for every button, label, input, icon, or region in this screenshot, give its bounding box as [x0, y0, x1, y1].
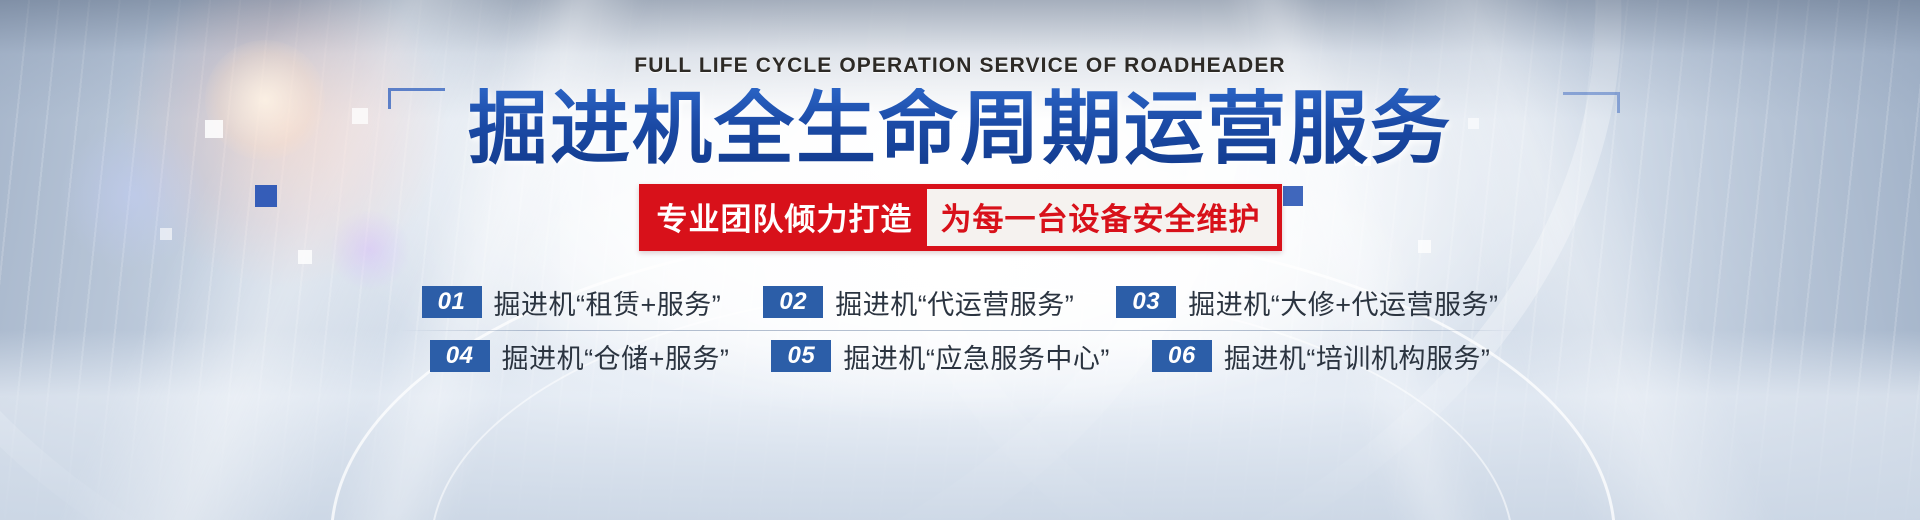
service-label: 掘进机“培训机构服务”: [1224, 337, 1490, 376]
service-number-badge: 02: [763, 286, 823, 318]
strapline-right-text: 为每一台设备安全维护: [927, 189, 1277, 246]
banner-eyebrow-english: FULL LIFE CYCLE OPERATION SERVICE OF ROA…: [634, 54, 1285, 78]
service-item-03[interactable]: 03 掘进机“大修+代运营服务”: [1116, 283, 1498, 322]
service-label: 掘进机“大修+代运营服务”: [1188, 283, 1498, 322]
service-number-badge: 06: [1152, 340, 1212, 372]
banner-content: FULL LIFE CYCLE OPERATION SERVICE OF ROA…: [0, 0, 1920, 520]
service-number-badge: 01: [422, 286, 482, 318]
service-row-1: 01 掘进机“租赁+服务” 02 掘进机“代运营服务” 03 掘进机“大修+代运…: [422, 277, 1499, 330]
service-item-01[interactable]: 01 掘进机“租赁+服务”: [422, 283, 722, 322]
service-row-2: 04 掘进机“仓储+服务” 05 掘进机“应急服务中心” 06 掘进机“培训机构…: [430, 331, 1491, 384]
service-number-badge: 05: [771, 340, 831, 372]
service-item-05[interactable]: 05 掘进机“应急服务中心”: [771, 337, 1109, 376]
service-label: 掘进机“代运营服务”: [835, 283, 1074, 322]
banner-headline: 掘进机全生命周期运营服务: [468, 88, 1452, 170]
service-label: 掘进机“租赁+服务”: [494, 283, 722, 322]
roadheader-hero-banner: FULL LIFE CYCLE OPERATION SERVICE OF ROA…: [0, 0, 1920, 520]
service-list: 01 掘进机“租赁+服务” 02 掘进机“代运营服务” 03 掘进机“大修+代运…: [400, 277, 1520, 384]
strapline-left-text: 专业团队倾力打造: [641, 186, 927, 249]
service-number-badge: 04: [430, 340, 490, 372]
strapline-bar: 专业团队倾力打造 为每一台设备安全维护: [639, 184, 1282, 251]
service-item-04[interactable]: 04 掘进机“仓储+服务”: [430, 337, 730, 376]
service-item-06[interactable]: 06 掘进机“培训机构服务”: [1152, 337, 1490, 376]
service-label: 掘进机“应急服务中心”: [843, 337, 1109, 376]
service-label: 掘进机“仓储+服务”: [502, 337, 730, 376]
service-number-badge: 03: [1116, 286, 1176, 318]
service-item-02[interactable]: 02 掘进机“代运营服务”: [763, 283, 1074, 322]
